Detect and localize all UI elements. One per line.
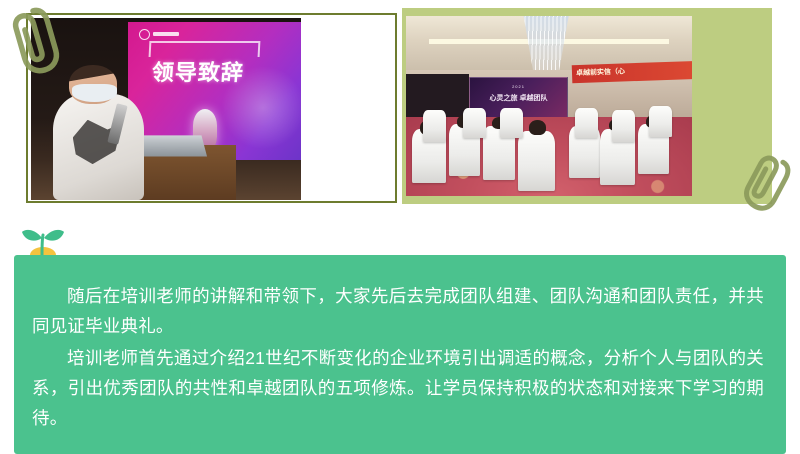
sprout-leaf-right — [44, 230, 64, 241]
photo-leader-speech: 领导致辞 — [31, 18, 301, 200]
logo-mark-icon — [139, 29, 150, 40]
audience-seats — [406, 16, 692, 196]
seat — [518, 131, 555, 190]
seat — [423, 110, 446, 142]
article-paragraph-2: 培训老师首先通过介绍21世纪不断变化的企业环境引出调适的概念，分析个人与团队的关… — [32, 343, 764, 433]
speaker-body — [53, 94, 145, 200]
article-text-panel: 随后在培训老师的讲解和带领下，大家先后去完成团队组建、团队沟通和团队责任，并共同… — [14, 255, 786, 454]
logo-wordmark — [153, 32, 179, 36]
attendee-head — [529, 120, 546, 134]
left-photo-card: 领导致辞 — [26, 13, 397, 203]
seat — [463, 108, 486, 139]
screen-logo — [139, 29, 179, 40]
photo-audience-hall: 2021 心灵之旅 卓越团队 卓越前实信（心 — [406, 16, 692, 196]
seat — [612, 110, 635, 142]
seat — [575, 108, 598, 139]
sprout-leaf-left — [22, 230, 42, 241]
sprout-stem — [42, 235, 43, 255]
seat — [649, 106, 672, 137]
laptop — [136, 136, 207, 157]
screen-title-text: 领导致辞 — [151, 55, 281, 87]
article-paragraph-1: 随后在培训老师的讲解和带领下，大家先后去完成团队组建、团队沟通和团队责任，并共同… — [32, 281, 764, 341]
seat — [500, 108, 523, 139]
face-mask — [72, 84, 118, 102]
